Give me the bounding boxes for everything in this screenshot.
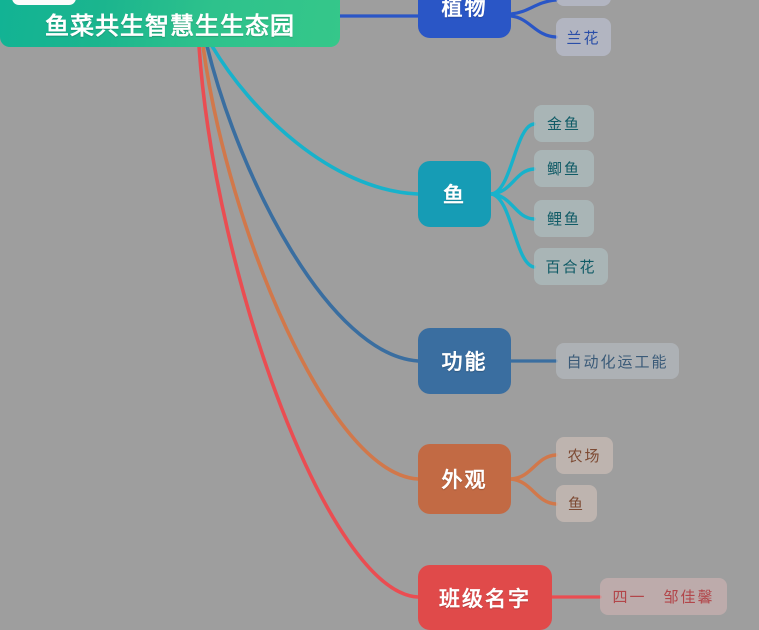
edge-root-appearance [203,46,418,479]
edge-fish-carp [491,194,534,219]
branch-node-class-name-label: 班级名字 [439,583,531,613]
root-node[interactable]: 鱼菜共生智慧生生态园 [0,0,340,47]
leaf-node-crucian-carp-label: 鲫鱼 [547,158,581,179]
leaf-node-crucian-carp[interactable]: 鲫鱼 [534,150,594,187]
leaf-node-lily[interactable]: 百合花 [534,248,608,285]
root-node-label: 鱼菜共生智慧生生态园 [45,6,295,41]
branch-node-plant[interactable]: 植物 [418,0,511,38]
leaf-node-goldfish-label: 金鱼 [547,113,581,134]
root-node-handle[interactable] [12,0,76,5]
leaf-node-carp[interactable]: 鲤鱼 [534,200,594,237]
leaf-node-student-name-label: 四一 邹佳馨 [612,586,714,607]
edge-root-function [207,46,418,361]
edge-plant-hidden [511,0,556,14]
leaf-node-farm-label: 农场 [567,445,601,466]
leaf-node-lily-label: 百合花 [545,256,596,277]
edge-plant-orchid [511,16,556,37]
edge-fish-crucian [491,169,534,194]
mindmap-canvas[interactable]: 鱼菜共生智慧生生态园 植物 兰花 鱼 金鱼 鲫鱼 鲤鱼 百合花 功能 自动化运工… [0,0,759,630]
leaf-node-fish-appearance[interactable]: 鱼 [556,485,597,522]
branch-node-fish-label: 鱼 [443,179,466,209]
edge-appearance-farm [511,455,556,479]
leaf-node-automation-label: 自动化运工能 [566,351,668,372]
edge-fish-goldfish [491,124,534,194]
branch-node-function[interactable]: 功能 [418,328,511,394]
branch-node-appearance-label: 外观 [442,464,488,494]
branch-node-fish[interactable]: 鱼 [418,161,491,227]
leaf-node-orchid[interactable]: 兰花 [556,18,611,56]
leaf-node-plant-clipped[interactable] [556,0,611,6]
leaf-node-orchid-label: 兰花 [566,27,600,48]
leaf-node-student-name[interactable]: 四一 邹佳馨 [600,578,727,615]
edge-layer [0,0,759,630]
leaf-node-fish-appearance-label: 鱼 [568,493,585,514]
branch-node-appearance[interactable]: 外观 [418,444,511,514]
leaf-node-automation[interactable]: 自动化运工能 [556,343,679,379]
branch-node-function-label: 功能 [442,346,488,376]
leaf-node-carp-label: 鲤鱼 [547,208,581,229]
edge-appearance-fish [511,479,556,504]
edge-fish-lily [491,194,534,267]
edge-root-fish [212,46,418,194]
leaf-node-goldfish[interactable]: 金鱼 [534,105,594,142]
branch-node-plant-label: 植物 [442,0,488,22]
branch-node-class-name[interactable]: 班级名字 [418,565,552,630]
leaf-node-farm[interactable]: 农场 [556,437,613,474]
edge-root-class [199,46,418,597]
